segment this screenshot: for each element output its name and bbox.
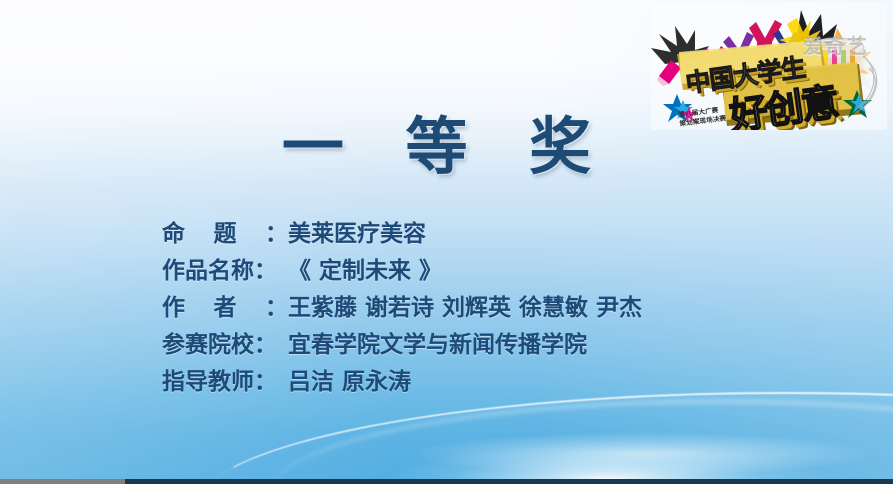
label-separator: ： (265, 288, 288, 322)
label-char: 作品名称 (162, 258, 254, 284)
label-separator: ： (265, 214, 288, 248)
detail-row-topic: 命题： 美莱医疗美容 (162, 214, 642, 251)
label-char: 作 (162, 288, 185, 322)
detail-label-authors: 作者： (162, 288, 288, 322)
light-arc-decoration (196, 392, 893, 484)
detail-row-school: 参赛院校： 宜春学院文学与新闻传播学院 (162, 325, 642, 362)
label-char: 参赛院校 (162, 332, 254, 358)
label-char: 者 (214, 288, 237, 322)
detail-value-topic: 美莱医疗美容 (288, 214, 426, 248)
award-slide: 一 等 奖 命题： 美莱医疗美容 作品名称： 《 定制未来 》 作者： 王紫藤 … (0, 0, 893, 484)
detail-value-advisors: 吕洁 原永涛 (288, 362, 411, 396)
light-arc-decoration-blur (268, 400, 893, 484)
light-haze-decoration (300, 430, 893, 484)
entry-details: 命题： 美莱医疗美容 作品名称： 《 定制未来 》 作者： 王紫藤 谢若诗 刘辉… (162, 214, 642, 399)
detail-row-authors: 作者： 王紫藤 谢若诗 刘辉英 徐慧敏 尹杰 (162, 288, 642, 325)
light-glow-decoration (299, 404, 893, 484)
detail-row-advisors: 指导教师： 吕洁 原永涛 (162, 362, 642, 399)
detail-row-work-title: 作品名称： 《 定制未来 》 (162, 251, 642, 288)
competition-logo: 中国大学生 好创意 第八届大广赛 策划案现场决赛 (651, 2, 887, 130)
label-char: 命 (162, 214, 185, 248)
bottom-letterbox-edge (0, 479, 893, 484)
detail-label-advisors: 指导教师： (162, 362, 288, 396)
label-separator: ： (254, 332, 277, 358)
detail-value-work-title: 《 定制未来 》 (288, 251, 442, 285)
detail-label-topic: 命题： (162, 214, 288, 248)
detail-value-school: 宜春学院文学与新闻传播学院 (288, 325, 587, 359)
label-char: 题 (214, 214, 237, 248)
label-separator: ： (254, 369, 277, 395)
detail-label-work-title: 作品名称： (162, 251, 288, 285)
label-char: 指导教师 (162, 369, 254, 395)
detail-value-authors: 王紫藤 谢若诗 刘辉英 徐慧敏 尹杰 (288, 288, 642, 322)
detail-label-school: 参赛院校： (162, 325, 288, 359)
label-separator: ： (254, 258, 277, 284)
